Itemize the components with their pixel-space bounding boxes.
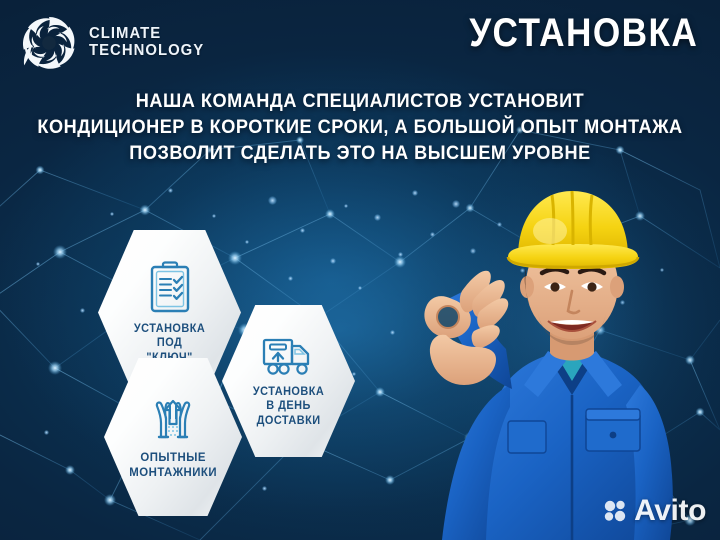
feature-caption-line1: УСТАНОВКА (253, 385, 324, 399)
avito-label: Avito (634, 494, 706, 528)
avito-dots-icon (602, 498, 628, 524)
page-title: УСТАНОВКА (469, 11, 698, 56)
clipboard-checklist-icon (146, 260, 194, 314)
feature-caption-delivery: УСТАНОВКА В ДЕНЬ ДОСТАВКИ (253, 385, 324, 427)
feature-caption-line2: В ДЕНЬ (253, 399, 324, 413)
feature-caption-line1: ОПЫТНЫЕ (129, 450, 217, 465)
brand-name-line2: TECHNOLOGY (89, 43, 204, 60)
brand-name-line1: CLIMATE (89, 26, 204, 43)
worker-photo (390, 145, 720, 540)
subheadline-line-2: КОНДИЦИОНЕР В КОРОТКИЕ СРОКИ, А БОЛЬШОЙ … (25, 114, 695, 140)
brand-logo: CLIMATE TECHNOLOGY (18, 12, 213, 74)
fan-spiral-logo-icon (18, 12, 80, 74)
feature-caption-installers: ОПЫТНЫЕ МОНТАЖНИКИ (129, 450, 217, 479)
feature-caption-line2: МОНТАЖНИКИ (129, 465, 217, 480)
delivery-truck-icon (261, 334, 317, 378)
subheadline-line-1: НАША КОМАНДА СПЕЦИАЛИСТОВ УСТАНОВИТ (25, 88, 695, 114)
avito-watermark: Avito (602, 494, 706, 528)
brand-name: CLIMATE TECHNOLOGY (89, 26, 204, 59)
feature-caption-line3: ДОСТАВКИ (253, 414, 324, 428)
feature-caption-line1: УСТАНОВКА (134, 322, 205, 336)
promo-banner: CLIMATE TECHNOLOGY УСТАНОВКА НАША КОМАНД… (0, 0, 720, 540)
hands-arrow-up-icon (147, 395, 199, 441)
feature-caption-line2: ПОД (134, 336, 205, 350)
